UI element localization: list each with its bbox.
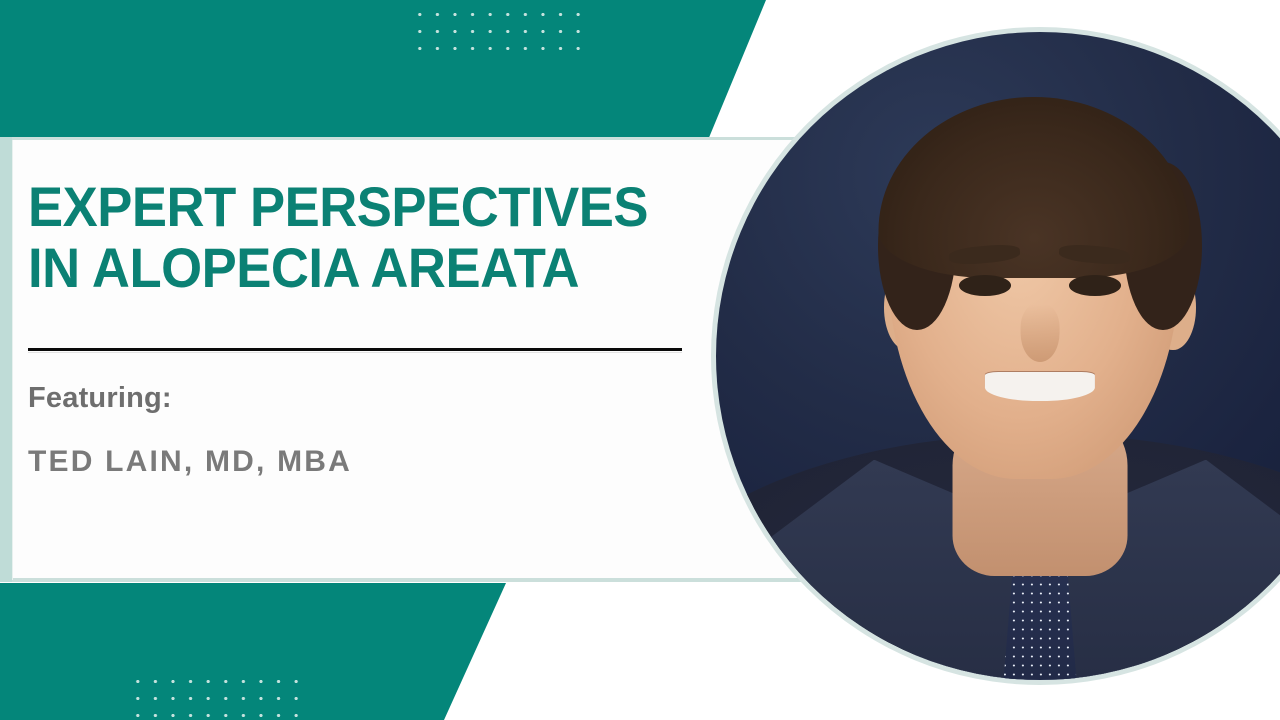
portrait-eye-left	[959, 275, 1011, 296]
presenter-avatar	[711, 27, 1280, 685]
title-divider	[28, 348, 682, 351]
portrait-hair	[878, 97, 1189, 278]
page-title-line-2: IN ALOPECIA AREATA	[28, 237, 686, 298]
portrait-nose	[1021, 304, 1060, 362]
presenter-name: TED LAIN, MD, MBA	[28, 444, 352, 480]
card-inner-rule	[12, 140, 13, 580]
portrait-smile	[985, 372, 1095, 401]
title-divider-shadow	[28, 352, 682, 353]
slide-canvas: EXPERT PERSPECTIVES IN ALOPECIA AREATA F…	[0, 0, 1280, 720]
featuring-label: Featuring:	[28, 381, 172, 416]
teal-top-shape	[0, 0, 790, 140]
page-title-line-1: EXPERT PERSPECTIVES	[28, 176, 686, 237]
dot-pattern-top-icon	[411, 6, 583, 51]
headline-block: EXPERT PERSPECTIVES IN ALOPECIA AREATA	[28, 176, 728, 298]
card-left-accent-band	[0, 137, 12, 582]
page-title: EXPERT PERSPECTIVES IN ALOPECIA AREATA	[28, 176, 686, 298]
presenter-photo	[716, 32, 1280, 680]
portrait-eye-right	[1069, 275, 1121, 296]
dot-pattern-bottom-icon	[129, 673, 301, 718]
